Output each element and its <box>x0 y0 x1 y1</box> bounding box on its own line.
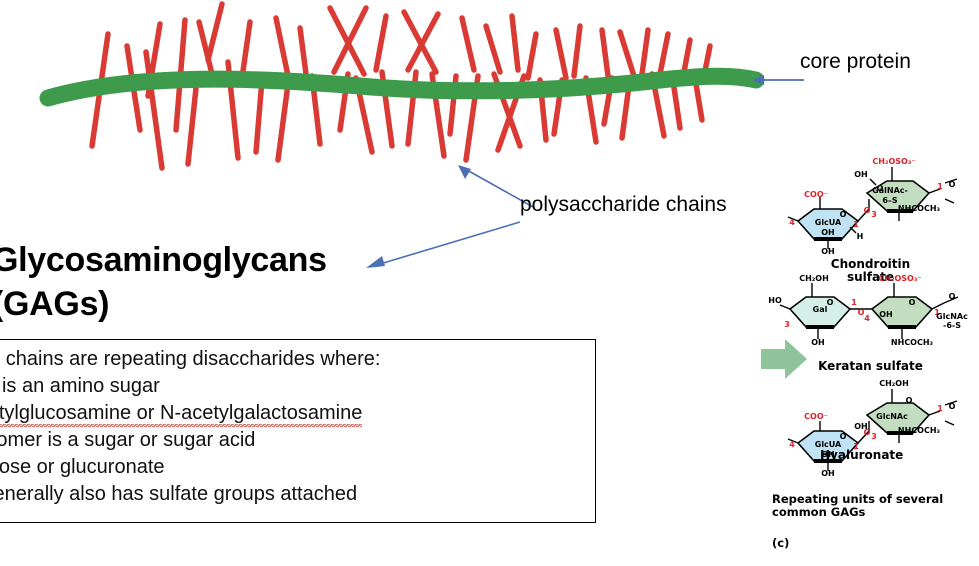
bullet-text: galactose or glucuronate <box>0 456 165 478</box>
page-title-line-1: Glycosaminoglycans <box>0 238 412 282</box>
svg-text:-6-S: -6-S <box>943 321 961 330</box>
svg-text:OH: OH <box>821 469 835 477</box>
svg-text:COO⁻: COO⁻ <box>804 190 828 199</box>
svg-text:O: O <box>827 298 834 307</box>
svg-text:OH: OH <box>821 228 835 237</box>
svg-text:1: 1 <box>851 298 857 307</box>
bullet-text-box: he polysaccharide chains are repeating d… <box>0 339 596 523</box>
panel-caption-line-2: common GAGs <box>772 506 943 519</box>
structure-chondroitin-sulfate: GalNAc- 6–S GlcUA OH CH₂OSO₃⁻ OH O NHCOC… <box>762 155 979 275</box>
bullet-text: he polysaccharide chains are repeating d… <box>0 348 380 370</box>
svg-text:3: 3 <box>871 432 877 441</box>
svg-text:O: O <box>949 292 956 301</box>
panel-caption: Repeating units of several common GAGs <box>772 493 943 519</box>
svg-text:CH₂OSO₃⁻: CH₂OSO₃⁻ <box>878 274 921 283</box>
bullet-line: he polysaccharide chains are repeating d… <box>0 346 595 373</box>
svg-text:HO: HO <box>768 296 782 305</box>
svg-text:6–S: 6–S <box>882 196 898 205</box>
polysaccharide-chains-label: polysaccharide chains <box>520 193 727 217</box>
bullet-text: he amino sugar generally also has sulfat… <box>0 483 357 505</box>
svg-text:Gal: Gal <box>813 305 828 314</box>
svg-text:O: O <box>864 206 871 215</box>
svg-text:GlcNAc: GlcNAc <box>936 312 968 321</box>
gag-structures-panel: GalNAc- 6–S GlcUA OH CH₂OSO₃⁻ OH O NHCOC… <box>762 155 979 566</box>
svg-text:3: 3 <box>871 210 877 219</box>
svg-text:OH: OH <box>854 170 868 179</box>
bullet-line: he amino sugar generally also has sulfat… <box>0 481 595 508</box>
bullet-text: the other monomer is a sugar or sugar ac… <box>0 429 255 451</box>
svg-text:OH: OH <box>811 338 825 347</box>
svg-text:CH₂OH: CH₂OH <box>879 379 909 388</box>
svg-text:O: O <box>840 210 847 219</box>
structure-name-line-1: Hyaluronate <box>820 449 960 462</box>
svg-text:CH₂OH: CH₂OH <box>799 274 829 283</box>
svg-text:CH₂OSO₃⁻: CH₂OSO₃⁻ <box>872 157 915 166</box>
svg-text:O: O <box>909 298 916 307</box>
svg-text:4: 4 <box>789 440 795 449</box>
structure-name-hyaluronate: Hyaluronate <box>820 449 960 462</box>
svg-text:3: 3 <box>784 320 790 329</box>
svg-text:4: 4 <box>864 314 870 323</box>
core-protein-label: core protein <box>800 50 911 74</box>
bullet-line: one monomer is an amino sugar <box>0 373 595 400</box>
bullet-text: N-acetylglucosamine or N-acetylgalactosa… <box>0 402 362 427</box>
bullet-line: - galactose or glucuronate <box>0 454 595 481</box>
svg-text:H: H <box>857 232 864 241</box>
svg-text:OH: OH <box>879 310 893 319</box>
panel-letter: (c) <box>772 537 789 550</box>
svg-text:O: O <box>877 184 884 193</box>
svg-text:1: 1 <box>853 220 859 229</box>
svg-text:O: O <box>864 428 871 437</box>
svg-text:NHCOCH₃: NHCOCH₃ <box>891 338 934 347</box>
proteoglycan-illustration <box>0 0 800 180</box>
structure-hyaluronate: GlcNAc GlcUA OH CH₂OH O OH NHCOCH₃ COO⁻ … <box>762 377 979 487</box>
svg-text:O: O <box>949 402 956 411</box>
svg-text:O: O <box>949 180 956 189</box>
bullet-line: the other monomer is a sugar or sugar ac… <box>0 427 595 454</box>
chondroitin-sulfate-diagram: GalNAc- 6–S GlcUA OH CH₂OSO₃⁻ OH O NHCOC… <box>762 155 979 255</box>
page-title-line-2: (GAGs) <box>0 282 412 326</box>
svg-text:4: 4 <box>789 218 795 227</box>
svg-text:1: 1 <box>937 182 943 191</box>
page-title: Glycosaminoglycans (GAGs) <box>0 238 412 326</box>
svg-text:NHCOCH₃: NHCOCH₃ <box>898 426 941 435</box>
svg-text:1: 1 <box>937 404 943 413</box>
core-protein-arrow <box>752 70 804 90</box>
svg-text:O: O <box>840 432 847 441</box>
svg-text:OH: OH <box>821 247 835 255</box>
bullet-line: - N-acetylglucosamine or N-acetylgalacto… <box>0 400 595 427</box>
svg-text:O: O <box>906 396 913 405</box>
svg-text:GlcUA: GlcUA <box>815 218 842 227</box>
hyaluronate-diagram: GlcNAc GlcUA OH CH₂OH O OH NHCOCH₃ COO⁻ … <box>762 377 979 477</box>
svg-text:GlcNAc: GlcNAc <box>876 412 908 421</box>
bullet-text: one monomer is an amino sugar <box>0 375 160 397</box>
svg-text:NHCOCH₃: NHCOCH₃ <box>898 204 941 213</box>
svg-text:COO⁻: COO⁻ <box>804 412 828 421</box>
